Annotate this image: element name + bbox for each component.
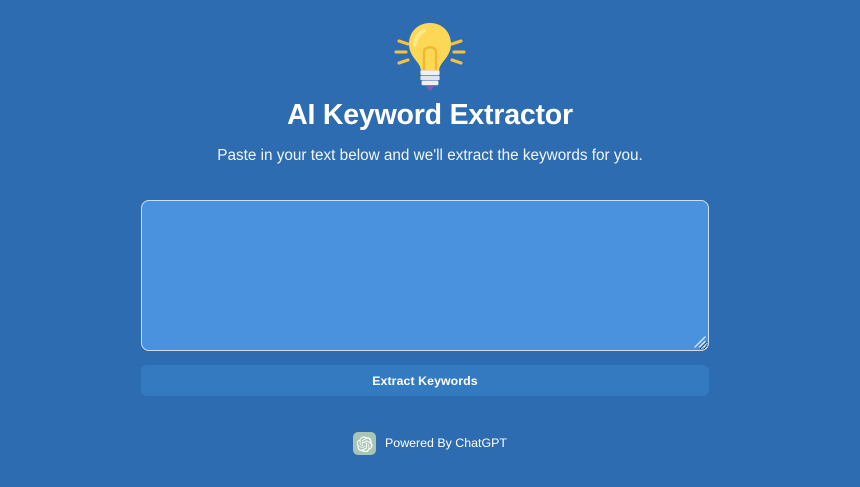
lightbulb-icon <box>384 18 476 94</box>
page-subtitle: Paste in your text below and we'll extra… <box>217 146 643 166</box>
openai-logo-icon <box>353 432 376 455</box>
extract-keywords-button[interactable]: Extract Keywords <box>141 365 709 396</box>
page-title: AI Keyword Extractor <box>287 98 573 132</box>
footer-text: Powered By ChatGPT <box>385 437 507 449</box>
app-root: AI Keyword Extractor Paste in your text … <box>0 0 860 487</box>
footer: Powered By ChatGPT <box>0 432 860 455</box>
keyword-input[interactable] <box>141 200 709 351</box>
